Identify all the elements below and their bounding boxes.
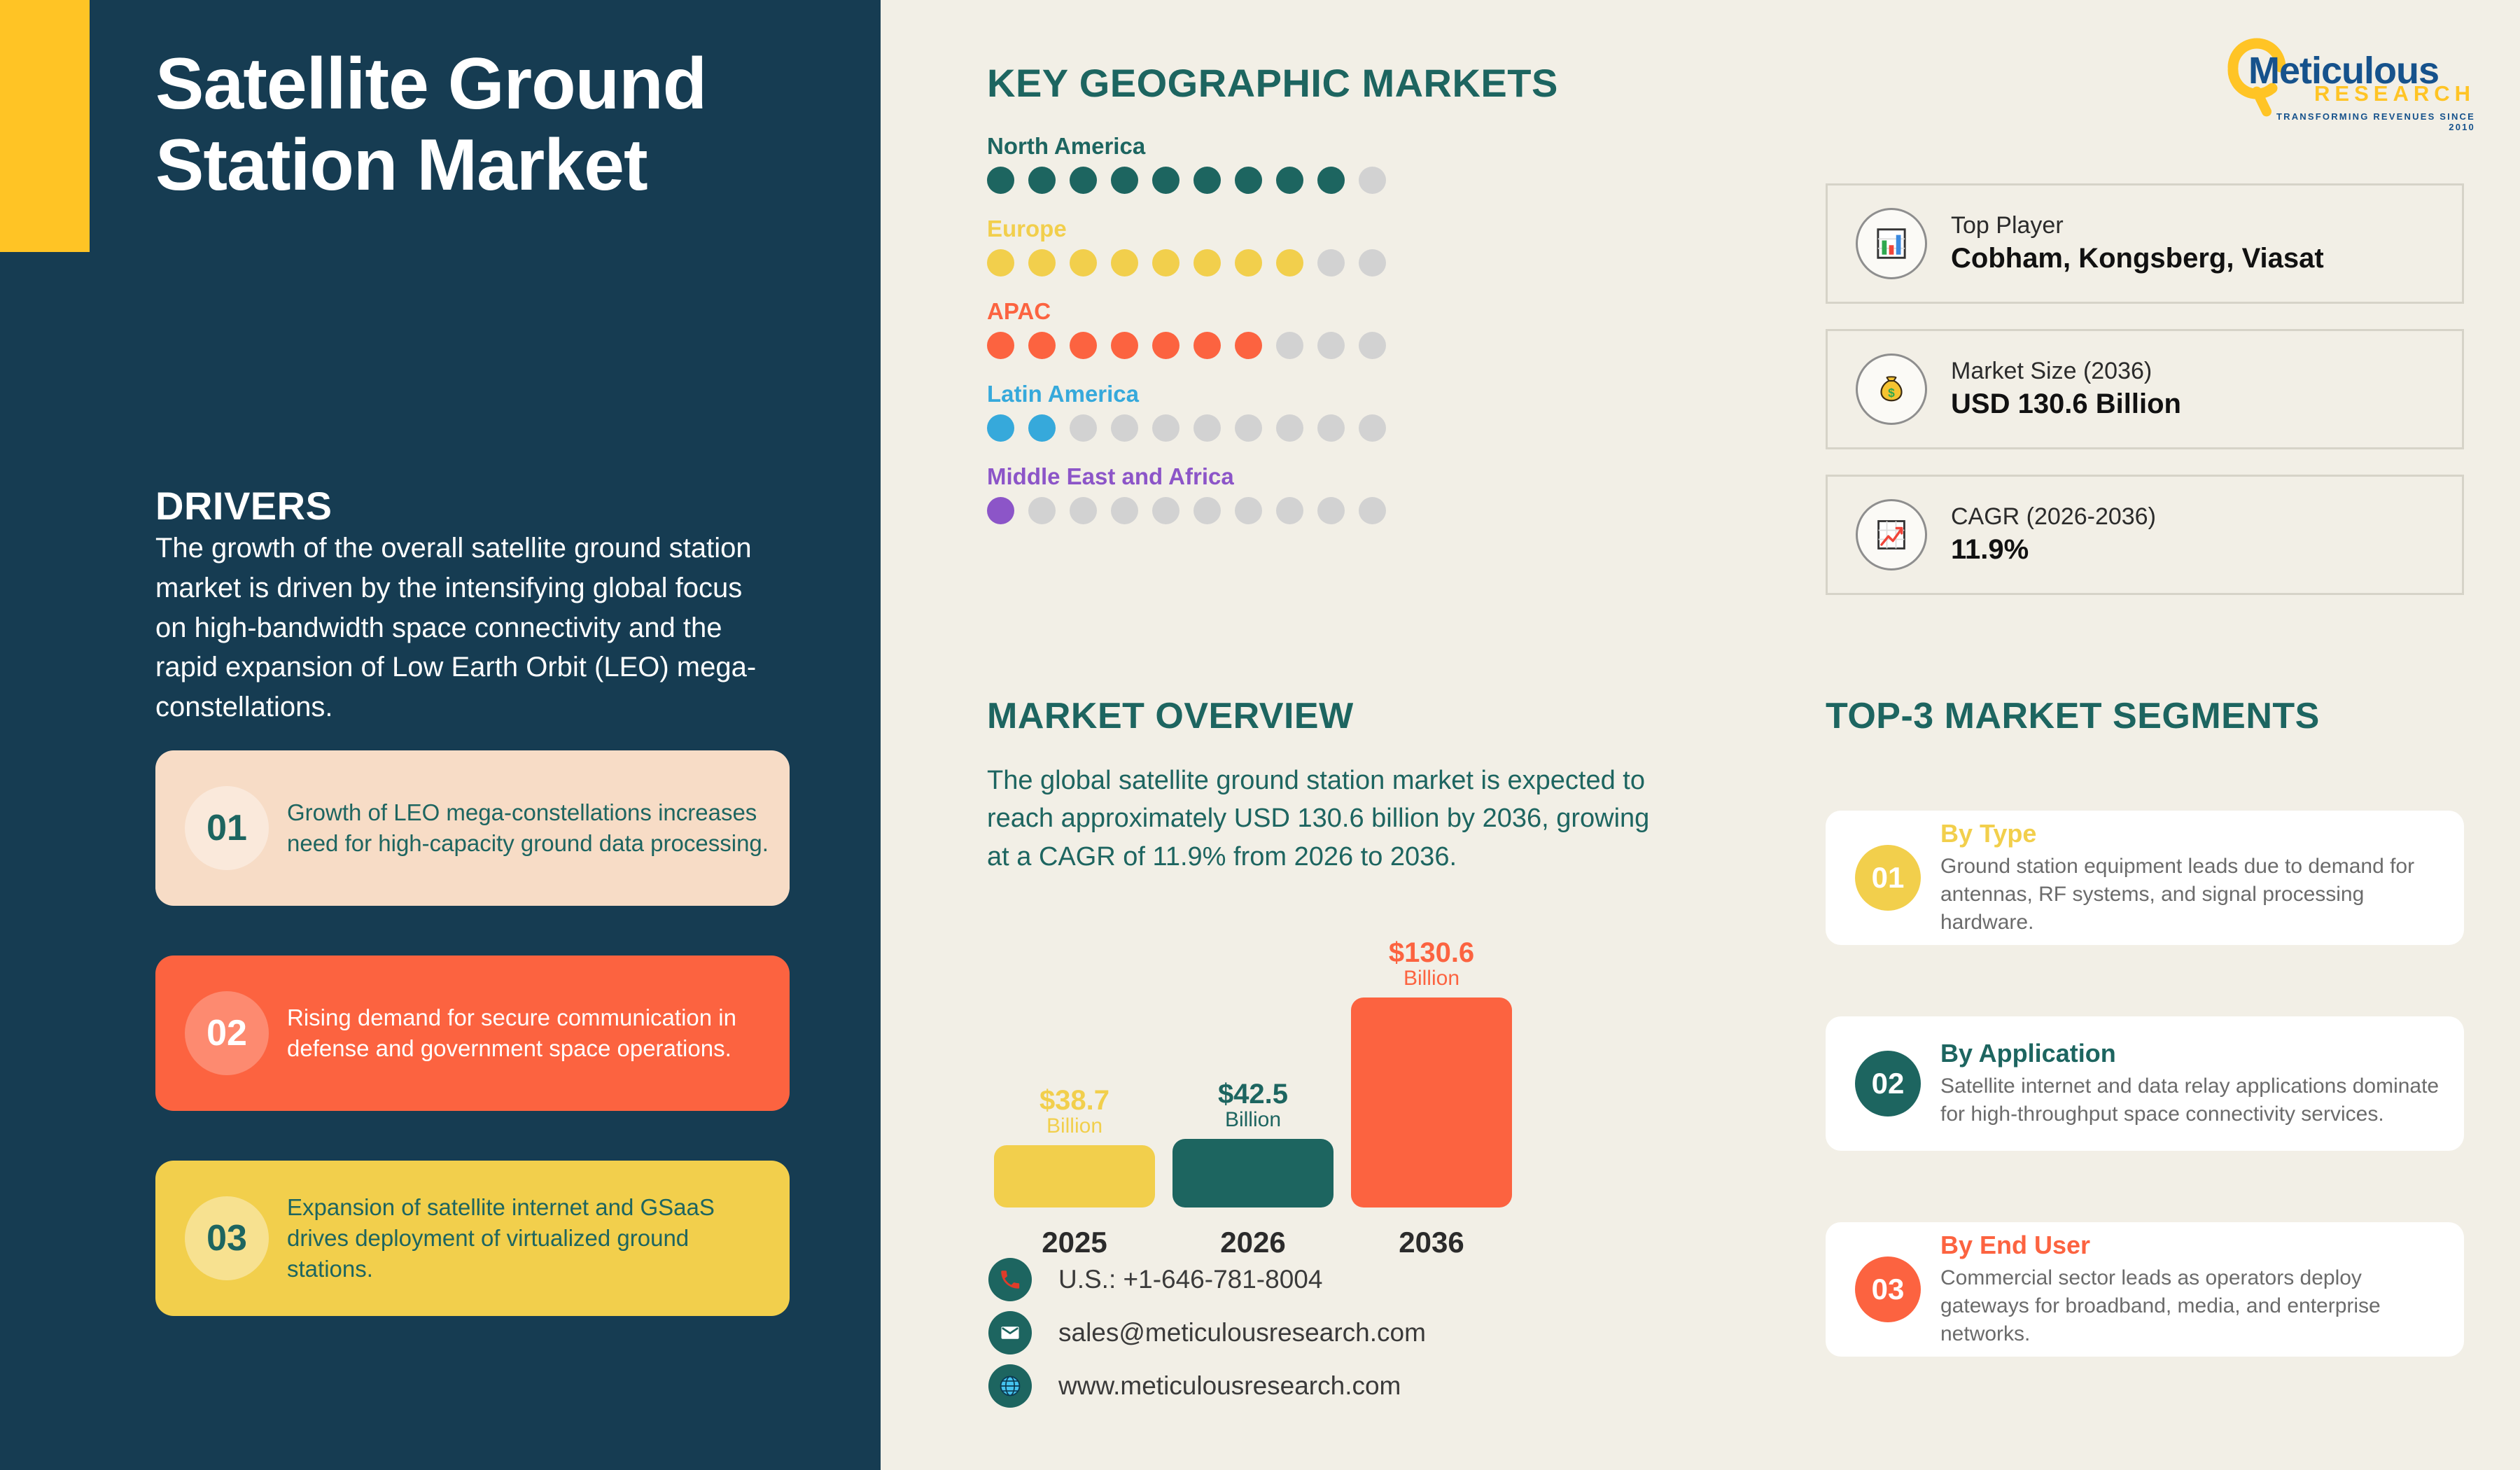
geo-dot-empty	[1111, 497, 1138, 524]
driver-text: Expansion of satellite internet and GSaa…	[287, 1192, 769, 1284]
geo-dot-empty	[1317, 414, 1345, 442]
geo-region-row: North America	[987, 133, 1386, 194]
bar-column: $38.7Billion2025	[994, 1145, 1155, 1207]
geo-dot-empty	[1359, 249, 1386, 276]
segment-card: 02 By Application Satellite internet and…	[1826, 1016, 2464, 1151]
geo-dot-empty	[1193, 414, 1221, 442]
stat-label: Market Size (2036)	[1951, 356, 2181, 386]
geo-dot-filled	[1070, 332, 1097, 359]
company-logo: Meticulous RESEARCH TRANSFORMING REVENUE…	[2218, 34, 2475, 125]
geo-dot-filled	[1152, 249, 1179, 276]
geo-dot-row	[987, 414, 1386, 442]
geo-dot-row	[987, 167, 1386, 194]
contact-website-text: www.meticulousresearch.com	[1058, 1371, 1401, 1401]
geo-region-label: North America	[987, 133, 1386, 160]
driver-text: Growth of LEO mega-constellations increa…	[287, 797, 769, 859]
segment-texts: By Type Ground station equipment leads d…	[1940, 819, 2446, 937]
svg-text:$: $	[1888, 386, 1895, 400]
bar-rect	[1351, 997, 1512, 1207]
segment-card: 01 By Type Ground station equipment lead…	[1826, 811, 2464, 945]
geo-dot-empty	[1028, 497, 1056, 524]
contact-phone-text: U.S.: +1-646-781-8004	[1058, 1265, 1322, 1294]
bar-value-label: $38.7Billion	[994, 1086, 1155, 1146]
geo-dot-empty	[1317, 497, 1345, 524]
geo-dot-empty	[1152, 414, 1179, 442]
market-overview-heading: MARKET OVERVIEW	[987, 695, 1354, 737]
money-bag-icon: $	[1856, 353, 1927, 425]
segment-description: Satellite internet and data relay applic…	[1940, 1072, 2446, 1128]
geo-region-row: Latin America	[987, 381, 1386, 442]
segment-number-badge: 03	[1855, 1256, 1921, 1322]
geo-dot-filled	[1028, 249, 1056, 276]
stat-label: CAGR (2026-2036)	[1951, 502, 2156, 532]
market-overview-body-text: The global satellite ground station mark…	[987, 762, 1666, 876]
geo-dot-filled	[987, 414, 1014, 442]
geo-dot-empty	[1276, 414, 1303, 442]
geo-dot-filled	[1028, 414, 1056, 442]
geo-dot-filled	[987, 497, 1014, 524]
segment-title: By Type	[1940, 819, 2446, 848]
bar-year-label: 2026	[1172, 1207, 1333, 1259]
segment-description: Commercial sector leads as operators dep…	[1940, 1264, 2446, 1348]
driver-number-badge: 03	[185, 1196, 269, 1280]
segment-number-badge: 02	[1855, 1051, 1921, 1116]
segment-title: By Application	[1940, 1039, 2446, 1068]
stat-card-cagr: CAGR (2026-2036) 11.9%	[1826, 475, 2464, 595]
geo-dot-filled	[1152, 167, 1179, 194]
email-icon	[988, 1311, 1032, 1354]
stat-value: 11.9%	[1951, 531, 2156, 568]
geo-dot-filled	[1111, 249, 1138, 276]
segments-heading: TOP-3 MARKET SEGMENTS	[1826, 695, 2320, 737]
logo-research-text: RESEARCH	[2281, 81, 2475, 106]
page-title: Satellite Ground Station Market	[155, 43, 785, 206]
bar-value-label: $130.6Billion	[1351, 938, 1512, 998]
geo-dot-empty	[1111, 414, 1138, 442]
segment-number-badge: 01	[1855, 845, 1921, 911]
geo-dot-filled	[1070, 249, 1097, 276]
geo-dot-row	[987, 332, 1386, 359]
geo-region-row: Europe	[987, 216, 1386, 276]
geo-dot-empty	[1276, 332, 1303, 359]
geo-dot-filled	[1028, 167, 1056, 194]
geo-dot-empty	[1276, 497, 1303, 524]
geo-dot-filled	[1276, 249, 1303, 276]
geo-dot-filled	[1235, 167, 1262, 194]
geographic-markets-heading: KEY GEOGRAPHIC MARKETS	[987, 60, 1558, 106]
geo-region-row: Middle East and Africa	[987, 463, 1386, 524]
geo-dot-empty	[1235, 497, 1262, 524]
geo-dot-empty	[1359, 414, 1386, 442]
geo-dot-filled	[987, 167, 1014, 194]
contact-row-email[interactable]: sales@meticulousresearch.com	[988, 1306, 1426, 1359]
geo-dot-filled	[1276, 167, 1303, 194]
bar-value-unit: Billion	[1172, 1109, 1333, 1131]
geo-dot-filled	[1235, 249, 1262, 276]
geo-dot-filled	[1193, 167, 1221, 194]
geo-region-row: APAC	[987, 298, 1386, 359]
bar-value-unit: Billion	[1351, 967, 1512, 990]
stat-texts: Top Player Cobham, Kongsberg, Viasat	[1951, 211, 2324, 277]
bar-year-label: 2036	[1351, 1207, 1512, 1259]
geo-dot-filled	[1317, 167, 1345, 194]
geo-dot-filled	[987, 249, 1014, 276]
logo-tagline: TRANSFORMING REVENUES SINCE 2010	[2260, 111, 2475, 132]
yellow-accent-bar	[0, 0, 90, 252]
contact-list: U.S.: +1-646-781-8004 sales@meticulousre…	[988, 1253, 1426, 1413]
phone-icon	[988, 1258, 1032, 1301]
geo-dot-empty	[1070, 414, 1097, 442]
bar-rect	[1172, 1139, 1333, 1207]
geo-region-label: APAC	[987, 298, 1386, 325]
geo-region-label: Middle East and Africa	[987, 463, 1386, 490]
globe-icon	[988, 1364, 1032, 1408]
geo-dot-empty	[1317, 249, 1345, 276]
geo-dot-filled	[1111, 167, 1138, 194]
stat-card-top-player: Top Player Cobham, Kongsberg, Viasat	[1826, 183, 2464, 304]
stat-label: Top Player	[1951, 211, 2324, 241]
contact-row-phone[interactable]: U.S.: +1-646-781-8004	[988, 1253, 1426, 1306]
bar-value-number: $42.5	[1172, 1079, 1333, 1109]
contact-email-text: sales@meticulousresearch.com	[1058, 1318, 1426, 1347]
drivers-body-text: The growth of the overall satellite grou…	[155, 528, 757, 727]
segment-card: 03 By End User Commercial sector leads a…	[1826, 1222, 2464, 1357]
geo-dot-filled	[1028, 332, 1056, 359]
left-panel: Satellite Ground Station Market DRIVERS …	[0, 0, 881, 1470]
segment-title: By End User	[1940, 1231, 2446, 1260]
geo-region-label: Europe	[987, 216, 1386, 242]
geo-dot-filled	[1111, 332, 1138, 359]
bar-value-number: $130.6	[1351, 938, 1512, 967]
bar-value-label: $42.5Billion	[1172, 1079, 1333, 1140]
driver-number-badge: 01	[185, 786, 269, 870]
bar-year-label: 2025	[994, 1207, 1155, 1259]
geo-dot-empty	[1359, 497, 1386, 524]
bar-chart-icon	[1856, 208, 1927, 279]
driver-number-badge: 02	[185, 991, 269, 1075]
segment-description: Ground station equipment leads due to de…	[1940, 853, 2446, 937]
geo-dot-empty	[1193, 497, 1221, 524]
geo-dot-filled	[1070, 167, 1097, 194]
segment-texts: By Application Satellite internet and da…	[1940, 1039, 2446, 1128]
stat-card-market-size: $ Market Size (2036) USD 130.6 Billion	[1826, 329, 2464, 449]
geo-dot-filled	[1152, 332, 1179, 359]
segment-texts: By End User Commercial sector leads as o…	[1940, 1231, 2446, 1348]
driver-card: 01 Growth of LEO mega-constellations inc…	[155, 750, 790, 906]
drivers-heading: DRIVERS	[155, 483, 332, 528]
stat-texts: CAGR (2026-2036) 11.9%	[1951, 502, 2156, 568]
geo-dot-row	[987, 249, 1386, 276]
geo-dot-filled	[1193, 249, 1221, 276]
geo-region-label: Latin America	[987, 381, 1386, 407]
driver-text: Rising demand for secure communication i…	[287, 1002, 769, 1064]
driver-card: 03 Expansion of satellite internet and G…	[155, 1161, 790, 1316]
stat-value: USD 130.6 Billion	[1951, 386, 2181, 422]
stat-value: Cobham, Kongsberg, Viasat	[1951, 240, 2324, 276]
bar-column: $42.5Billion2026	[1172, 1139, 1333, 1207]
geo-dot-empty	[1359, 167, 1386, 194]
geo-dot-row	[987, 497, 1386, 524]
geo-dot-filled	[1235, 332, 1262, 359]
bar-value-number: $38.7	[994, 1086, 1155, 1115]
bar-rect	[994, 1145, 1155, 1207]
stat-texts: Market Size (2036) USD 130.6 Billion	[1951, 356, 2181, 423]
geo-dot-empty	[1070, 497, 1097, 524]
geo-dot-filled	[1193, 332, 1221, 359]
bar-column: $130.6Billion2036	[1351, 997, 1512, 1207]
geo-dot-empty	[1152, 497, 1179, 524]
trending-chart-icon	[1856, 499, 1927, 570]
contact-row-website[interactable]: www.meticulousresearch.com	[988, 1359, 1426, 1413]
geo-dot-empty	[1317, 332, 1345, 359]
geo-dot-empty	[1359, 332, 1386, 359]
driver-card: 02 Rising demand for secure communicatio…	[155, 955, 790, 1111]
bar-value-unit: Billion	[994, 1115, 1155, 1137]
geo-dot-filled	[987, 332, 1014, 359]
geo-dot-empty	[1235, 414, 1262, 442]
market-size-bar-chart: $38.7Billion2025$42.5Billion2026$130.6Bi…	[987, 941, 1540, 1249]
